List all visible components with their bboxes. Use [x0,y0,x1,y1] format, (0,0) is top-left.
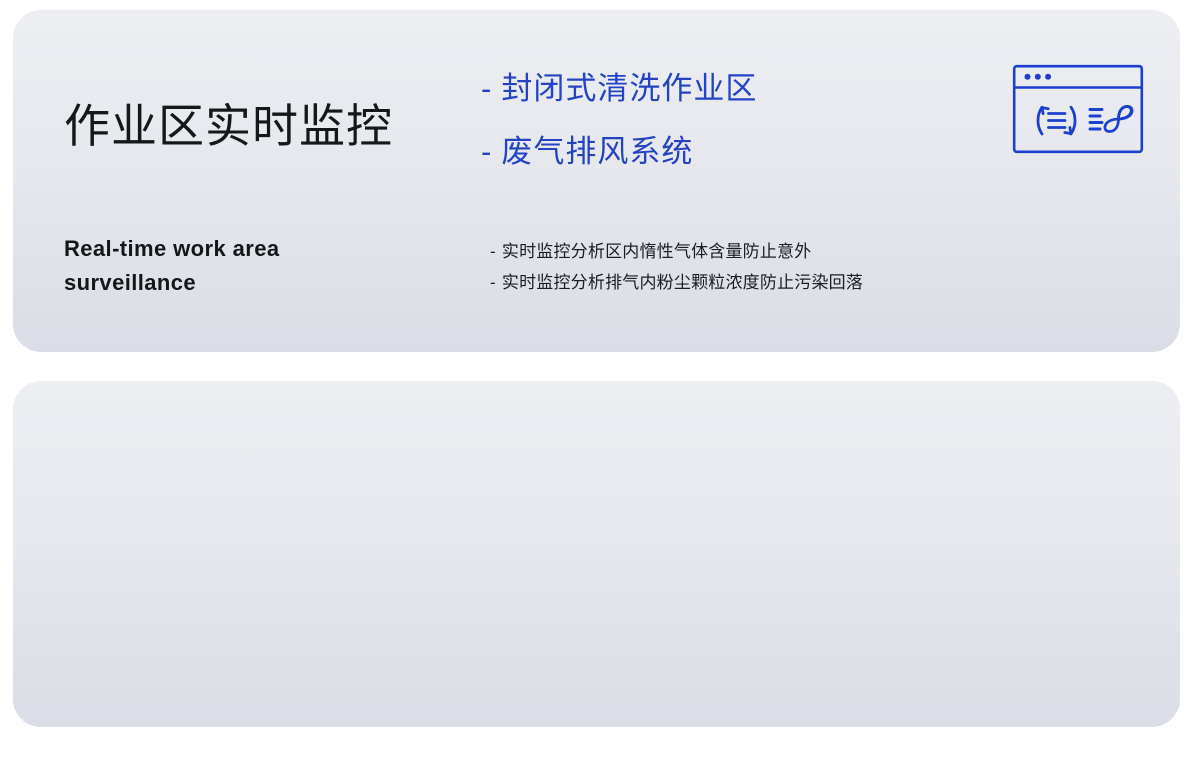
card-2-left-column: 智能化操作 Intelligent operation [64,381,464,727]
card-1-feature-item-1: -封闭式清洗作业区 [481,73,757,104]
card-1-feature-list: -封闭式清洗作业区 -废气排风系统 [481,73,757,167]
card-1-detail-list: -实时监控分析区内惰性气体含量防止意外 -实时监控分析排气内粉尘颗粒浓度防止污染… [490,236,863,299]
card-1-feature-label-2: 废气排风系统 [501,134,693,169]
card-1-feature-label-1: 封闭式清洗作业区 [501,71,757,106]
dash-bullet: - [481,134,492,169]
card-1-title-cn: 作业区实时监控 [64,101,393,152]
card-intelligent-operation: 智能化操作 Intelligent operation -工业 PC -专业操作… [13,381,1180,727]
dash-bullet: - [490,273,496,292]
dash-bullet: - [481,71,492,106]
card-real-time-work-area-surveillance: 作业区实时监控 Real-time work area surveillance… [13,10,1180,352]
card-1-detail-item-2: -实时监控分析排气内粉尘颗粒浓度防止污染回落 [490,267,863,298]
card-1-feature-item-2: -废气排风系统 [481,136,757,167]
card-1-title-en: Real-time work area surveillance [64,232,394,300]
card-1-detail-label-2: 实时监控分析排气内粉尘颗粒浓度防止污染回落 [502,273,863,292]
card-1-detail-label-1: 实时监控分析区内惰性气体含量防止意外 [502,242,812,261]
card-1-detail-item-1: -实时监控分析区内惰性气体含量防止意外 [490,236,863,267]
browser-window-refresh-fan-icon [1012,64,1144,154]
card-1-left-column: 作业区实时监控 Real-time work area surveillance [64,10,464,352]
dash-bullet: - [490,242,496,261]
